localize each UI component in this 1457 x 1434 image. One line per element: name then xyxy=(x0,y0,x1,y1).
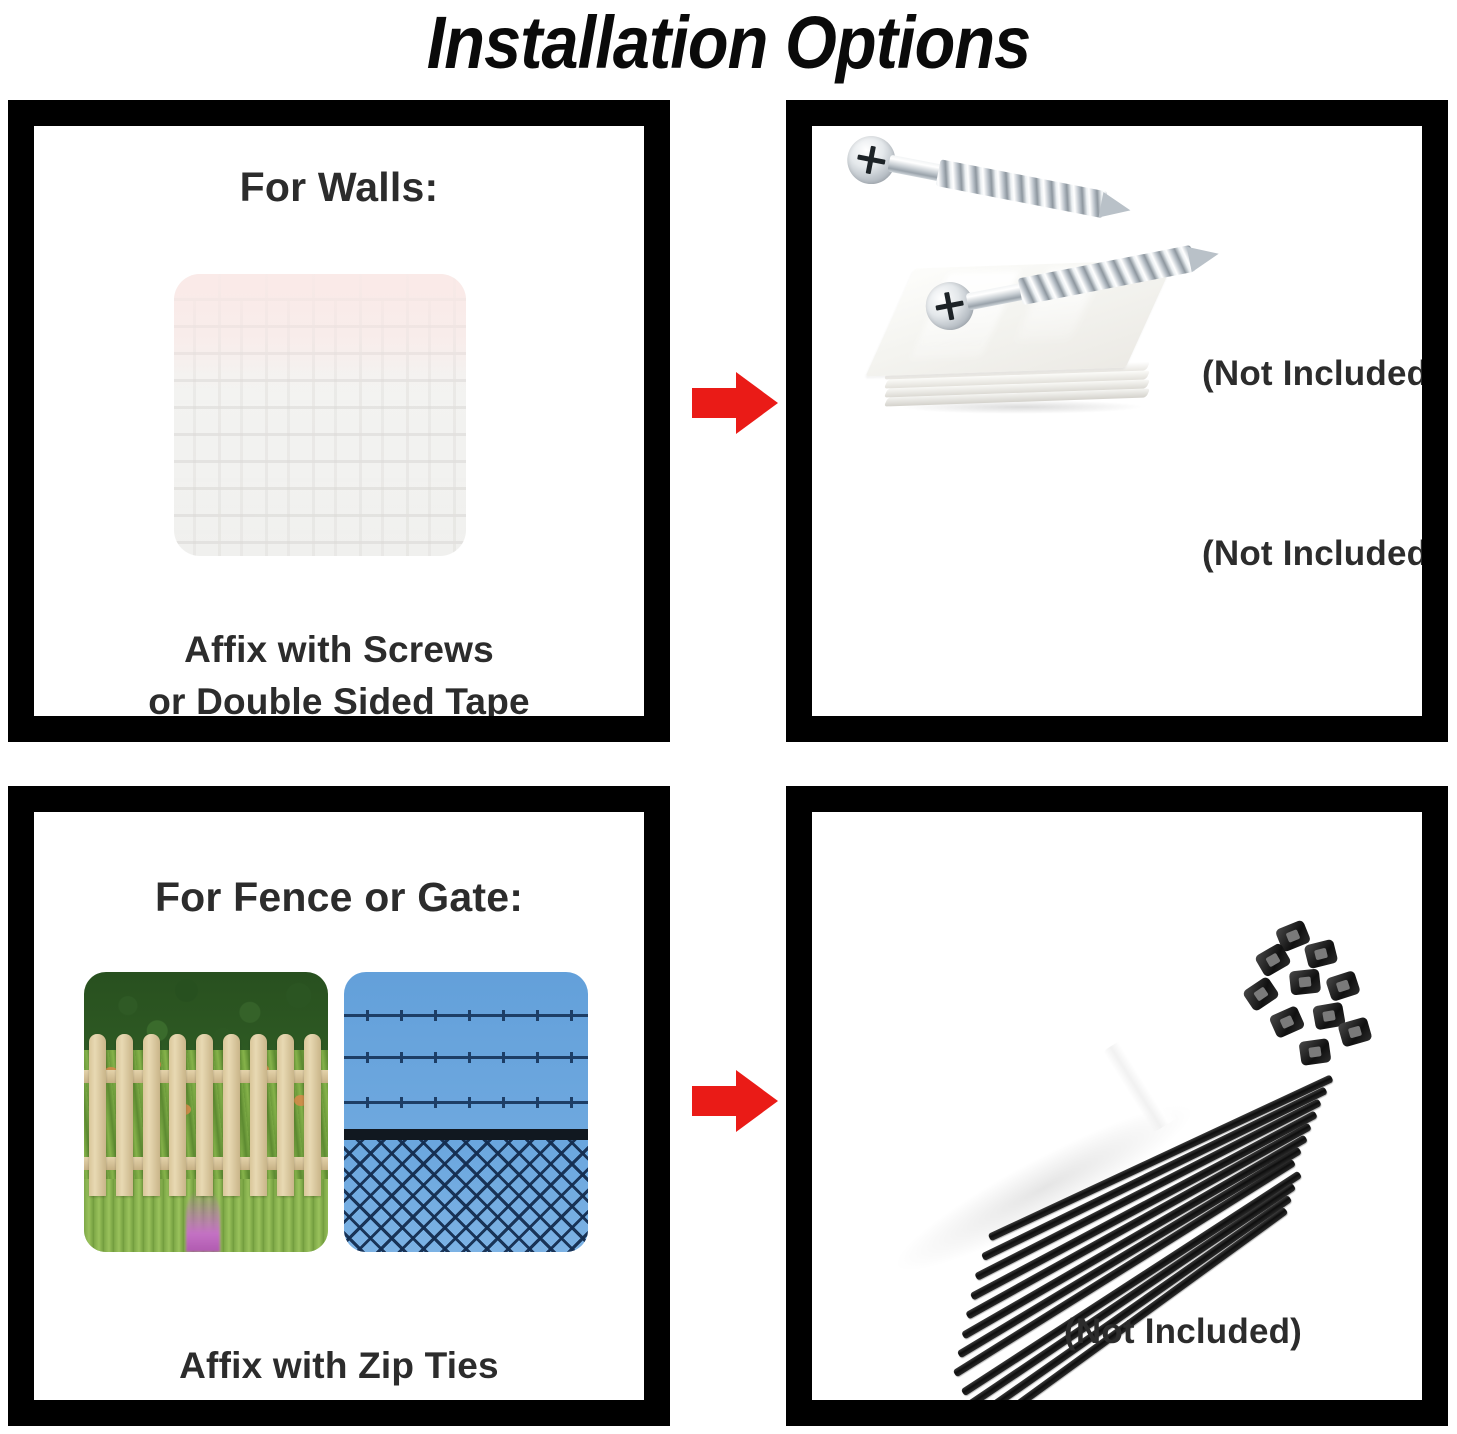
zip-tie-head xyxy=(1242,976,1280,1013)
fence-picket xyxy=(277,1034,294,1196)
screw-threads-2 xyxy=(1018,245,1196,305)
for-walls-caption: Affix with Screws or Double Sided Tape xyxy=(34,624,644,716)
fence-picket xyxy=(196,1034,213,1196)
zip-tie-head xyxy=(1268,1005,1305,1039)
panel-zip-ties: (Not Included) xyxy=(786,786,1448,1426)
arrow-shaft xyxy=(692,1086,738,1116)
walls-caption-line-2: or Double Sided Tape xyxy=(34,676,644,716)
screw-tip-1 xyxy=(1098,192,1132,223)
arrow-shaft xyxy=(692,388,738,418)
zip-tie-head xyxy=(1298,1038,1331,1066)
barbed-wire-strand-2 xyxy=(344,1056,588,1059)
zip-tie-head xyxy=(1304,939,1339,970)
fence-picket xyxy=(223,1034,240,1196)
barbed-wire-strand-1 xyxy=(344,1014,588,1017)
fence-picket xyxy=(143,1034,160,1196)
for-fence-caption: Affix with Zip Ties xyxy=(34,1340,644,1392)
panel-for-fence-or-gate: For Fence or Gate: xyxy=(8,786,670,1426)
panel-for-walls: For Walls: Affix with Screws or Double S… xyxy=(8,100,670,742)
for-fence-or-gate-heading: For Fence or Gate: xyxy=(34,874,644,921)
barbed-wire-strand-3 xyxy=(344,1101,588,1104)
black-zip-ties-bundle-icon xyxy=(854,908,1394,1308)
page-title: Installation Options xyxy=(73,2,1384,84)
screw-threads-1 xyxy=(936,159,1108,218)
zip-ties-not-included-note: (Not Included) xyxy=(1064,1312,1302,1352)
chain-link-mesh xyxy=(344,1140,588,1252)
screw-tip-2 xyxy=(1187,241,1221,272)
white-brick-wall-photo xyxy=(174,274,466,556)
red-arrow-right-icon xyxy=(692,1070,780,1132)
installation-options-infographic: Installation Options For Walls: Affix wi… xyxy=(0,0,1457,1434)
fence-caption-line-1: Affix with Zip Ties xyxy=(34,1340,644,1392)
tape-not-included-note: (Not Included) xyxy=(1202,354,1422,394)
panel-wall-materials: (Not Included) (Not Included) xyxy=(786,100,1448,742)
brick-top-haze xyxy=(174,274,466,392)
fence-picket xyxy=(250,1034,267,1196)
zip-tie-head xyxy=(1325,970,1361,1002)
purple-path xyxy=(186,1190,220,1252)
arrow-head xyxy=(736,372,778,434)
screws-not-included-note: (Not Included) xyxy=(1202,534,1422,574)
fence-picket xyxy=(304,1034,321,1196)
chain-link-top-rail xyxy=(344,1129,588,1140)
walls-caption-line-1: Affix with Screws xyxy=(34,624,644,676)
chain-link-barbed-wire-fence-photo xyxy=(344,972,588,1252)
wood-screw-icon-1 xyxy=(840,126,1148,252)
wooden-picket-fence-photo xyxy=(84,972,328,1252)
red-arrow-right-icon xyxy=(692,372,780,434)
fence-picket xyxy=(116,1034,133,1196)
for-walls-heading: For Walls: xyxy=(34,164,644,211)
zip-tie-head xyxy=(1289,968,1321,995)
fence-picket xyxy=(169,1034,186,1196)
fence-picket xyxy=(89,1034,106,1196)
arrow-head xyxy=(736,1070,778,1132)
